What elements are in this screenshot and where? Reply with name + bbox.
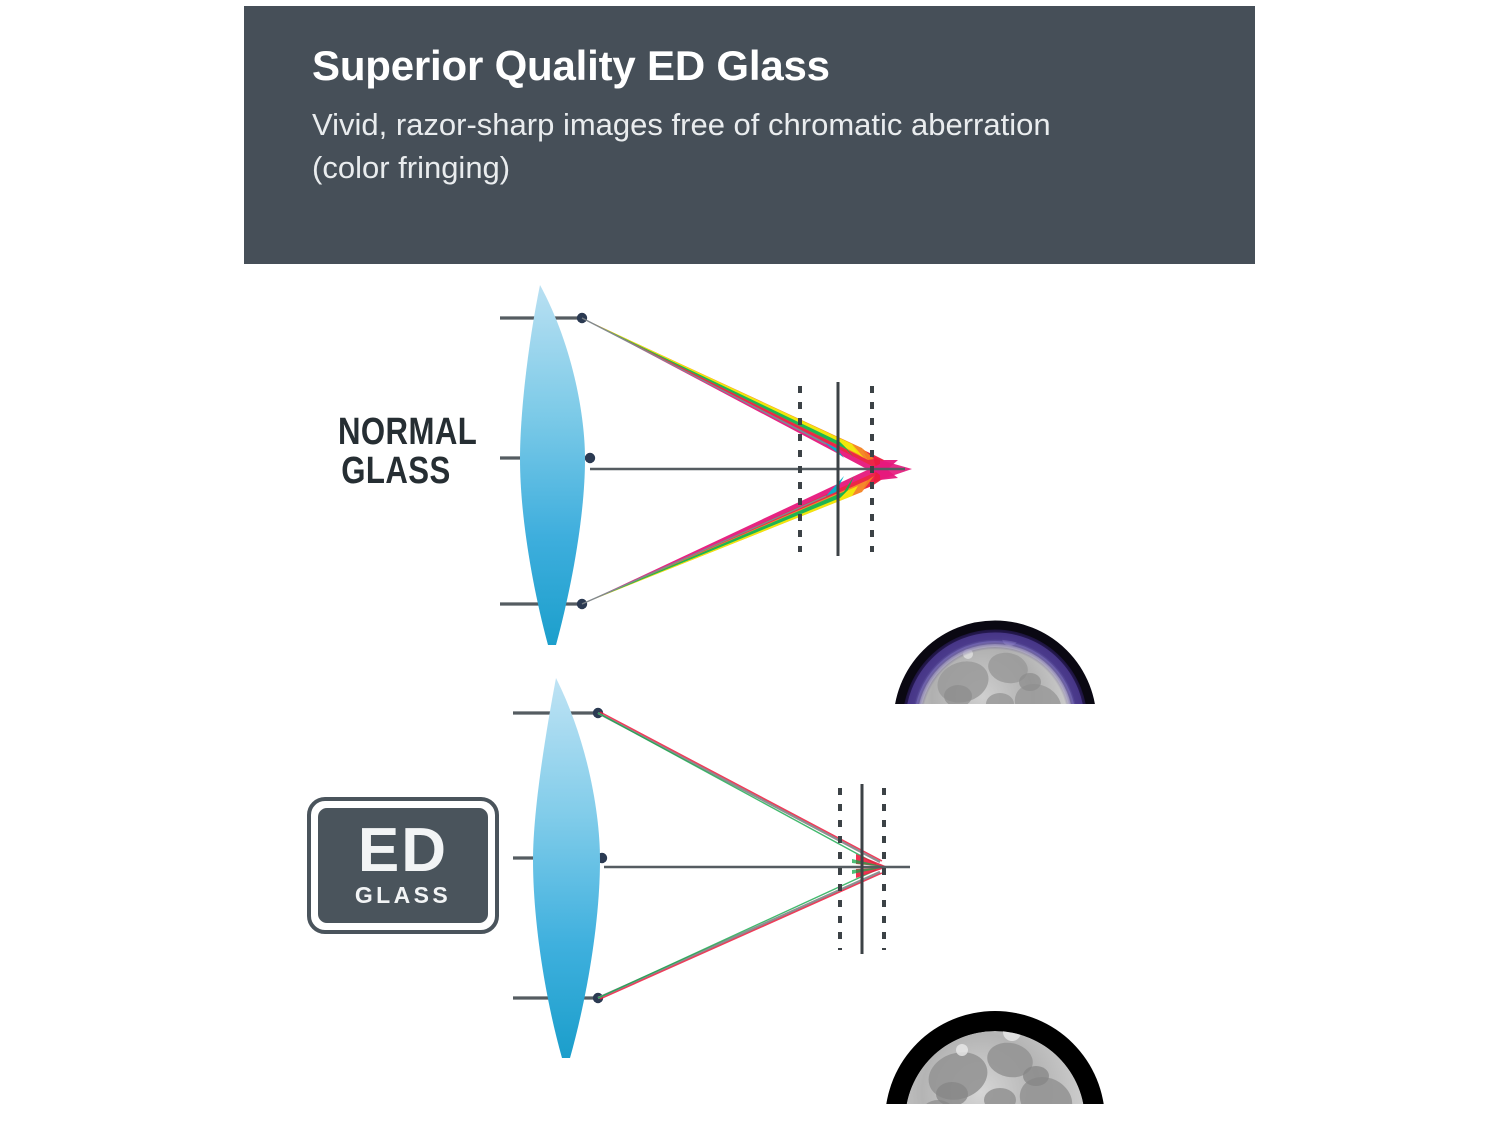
- lens-normal: [520, 285, 585, 645]
- badge-inner-plate: ED GLASS: [315, 805, 491, 926]
- moon-ed-glass: [885, 1011, 1105, 1104]
- normal-glass-illustration: [0, 264, 1500, 704]
- header-banner: Superior Quality ED Glass Vivid, razor-s…: [244, 6, 1255, 264]
- label-normal-glass-line2: GLASS: [338, 452, 469, 491]
- panel-ed-glass: [0, 664, 1500, 1104]
- optical-diagram: NORMAL GLASS: [0, 264, 1500, 1125]
- dispersion-fan-upper-normal: [582, 318, 880, 476]
- page-subtitle: Vivid, razor-sharp images free of chroma…: [312, 104, 1072, 190]
- ed-glass-illustration: [0, 664, 1500, 1104]
- label-normal-glass: NORMAL GLASS: [338, 413, 469, 491]
- dispersion-fan-lower-normal: [582, 464, 880, 604]
- page-title: Superior Quality ED Glass: [312, 44, 1255, 88]
- label-normal-glass-line1: NORMAL: [338, 411, 477, 453]
- badge-glass-text: GLASS: [355, 884, 451, 907]
- badge-ed-glass: ED GLASS: [307, 797, 499, 934]
- lens-ed: [533, 678, 600, 1058]
- badge-ed-text: ED: [358, 822, 448, 879]
- panel-normal-glass: NORMAL GLASS: [0, 264, 1500, 674]
